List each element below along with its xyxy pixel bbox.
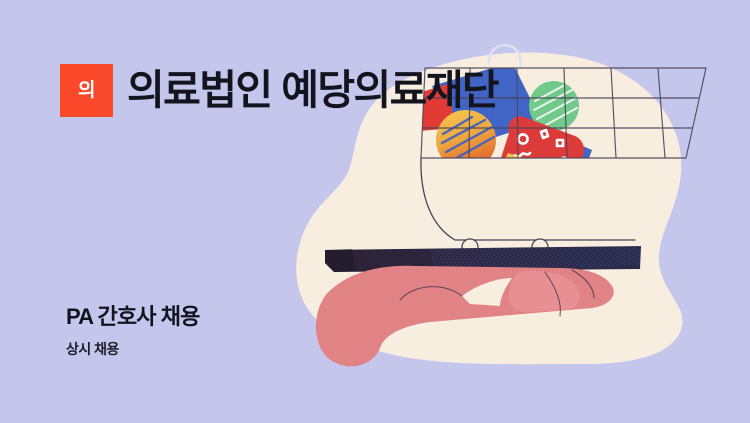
text-layer: 의 의료법인 예당의료재단 PA 간호사 채용 상시 채용 — [0, 0, 750, 423]
job-block: PA 간호사 채용 상시 채용 — [66, 303, 199, 357]
recruitment-banner: 의 의료법인 예당의료재단 PA 간호사 채용 상시 채용 — [0, 0, 750, 423]
job-hiring-type: 상시 채용 — [66, 341, 199, 358]
brand-row: 의 의료법인 예당의료재단 — [60, 64, 498, 117]
brand-badge-icon: 의 — [60, 64, 113, 117]
company-name: 의료법인 예당의료재단 — [127, 70, 498, 112]
job-position-title: PA 간호사 채용 — [66, 303, 199, 331]
